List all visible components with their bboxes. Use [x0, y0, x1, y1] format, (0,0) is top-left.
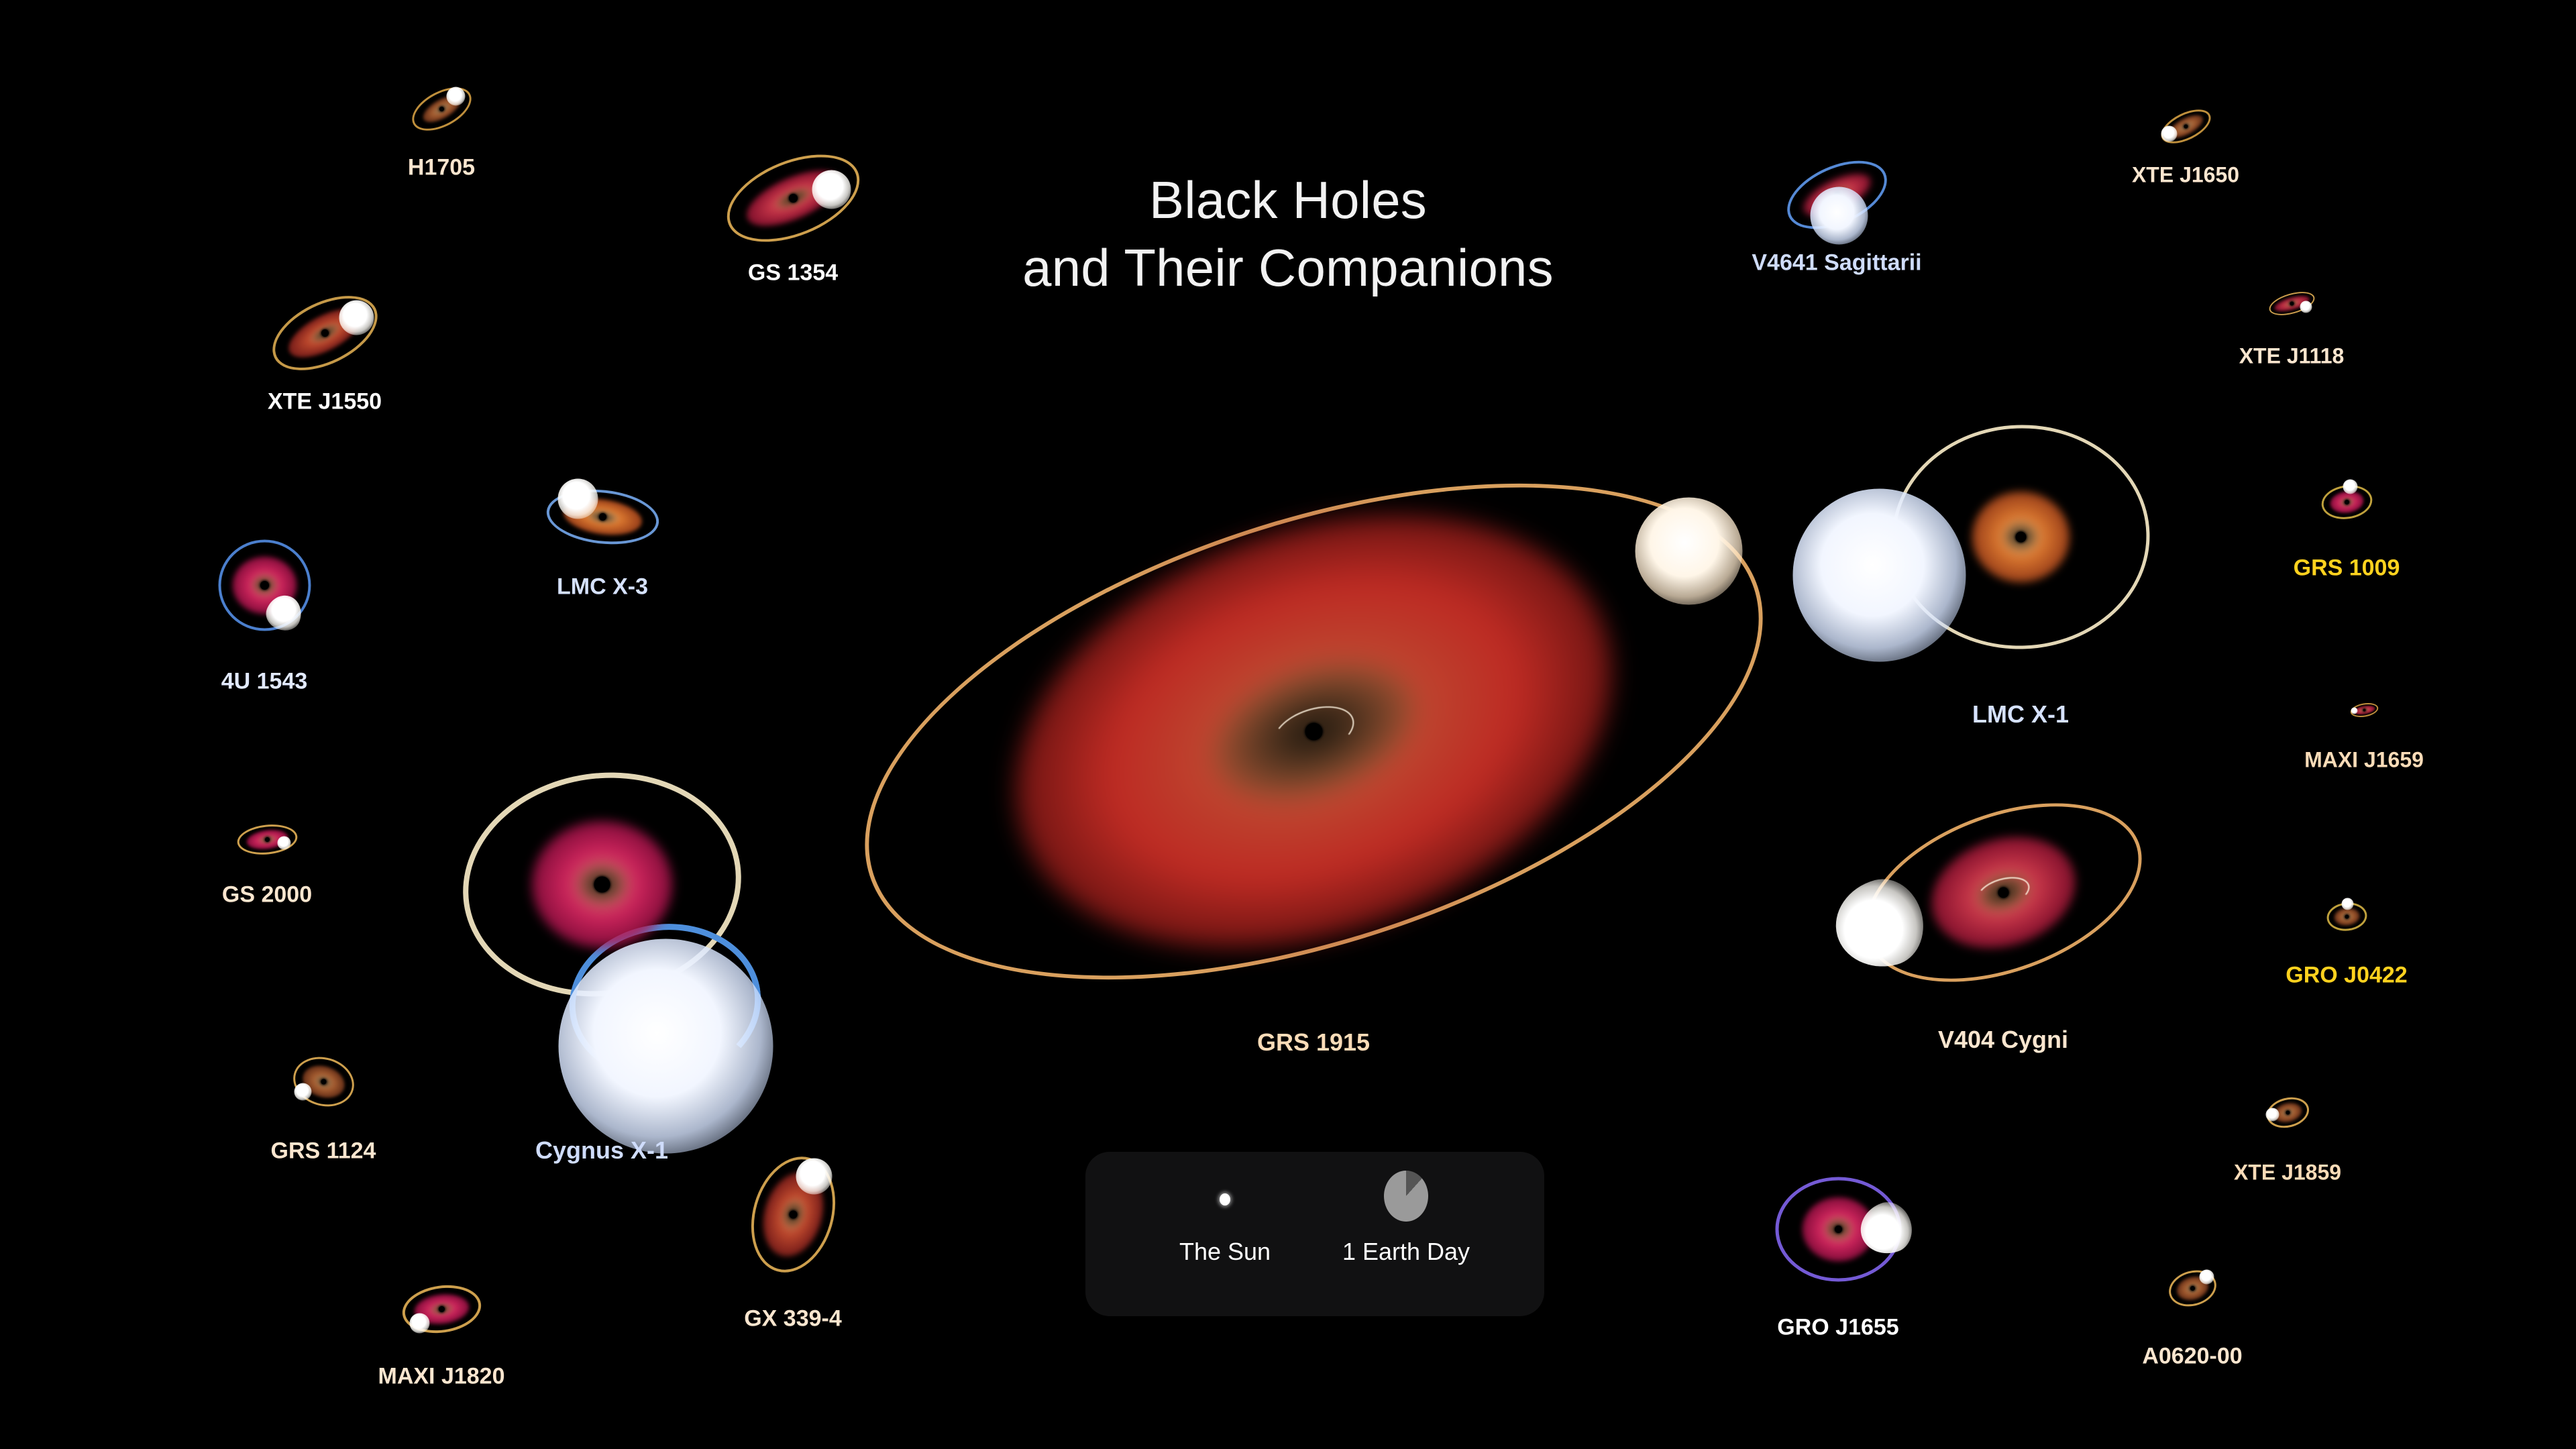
system-artwork-xte-j1550 — [325, 333, 325, 333]
system-label-xte-j1118: XTE J1118 — [2239, 344, 2345, 369]
system-label-lmc-x-1: LMC X-1 — [1972, 700, 2069, 729]
companion-star — [812, 170, 851, 209]
black-hole — [2286, 1110, 2290, 1114]
legend-label-one-earth-day: 1 Earth Day — [1326, 1238, 1487, 1266]
system-label-gs1354: GS 1354 — [748, 260, 838, 286]
starfield-canvas: Black Holes and Their Companions H1705GS… — [0, 0, 2576, 1449]
legend-label-the-sun: The Sun — [1144, 1238, 1305, 1266]
companion-star — [2343, 480, 2358, 494]
system-artwork-lmc-x-3 — [602, 517, 603, 517]
system-artwork-gx339-4 — [793, 1214, 794, 1215]
system-label-gro-j1655: GRO J1655 — [1777, 1315, 1898, 1341]
system-label-a0620-00: A0620-00 — [2142, 1344, 2242, 1370]
system-artwork-maxi-j1659 — [2364, 710, 2365, 710]
black-hole — [2345, 500, 2349, 504]
system-artwork-grs1915 — [1313, 731, 1314, 732]
system-label-maxi-j1659: MAXI J1659 — [2304, 748, 2424, 773]
system-label-4u-1543: 4U 1543 — [221, 669, 308, 695]
black-hole — [321, 1079, 326, 1084]
black-hole — [2184, 124, 2188, 128]
black-hole — [321, 329, 329, 337]
black-hole — [265, 837, 270, 842]
black-hole — [2190, 1286, 2195, 1291]
black-hole — [789, 194, 798, 203]
companion-star — [2200, 1270, 2214, 1285]
system-artwork-grs1124 — [323, 1081, 324, 1082]
companion-star — [278, 837, 291, 850]
title-line-2: and Their Companions — [0, 234, 2576, 302]
clock-pie-icon — [1384, 1171, 1428, 1222]
black-hole — [594, 876, 610, 892]
black-hole — [599, 513, 606, 521]
companion-star — [2351, 708, 2358, 714]
black-hole — [2363, 708, 2365, 711]
companion-star — [2300, 301, 2312, 313]
companion-star — [558, 479, 598, 519]
companion-star — [447, 87, 466, 106]
system-label-grs1915: GRS 1915 — [1257, 1028, 1370, 1057]
system-artwork-cygnus-x-1 — [602, 884, 602, 885]
system-artwork-a0620-00 — [2192, 1288, 2193, 1289]
small-white-dot-icon — [1220, 1193, 1230, 1205]
companion-star — [410, 1313, 430, 1334]
black-hole — [2290, 301, 2294, 305]
system-artwork-gs1354 — [793, 198, 794, 199]
companion-star — [559, 939, 773, 1154]
system-artwork-lmc-x-1 — [2021, 537, 2021, 537]
black-hole — [2345, 914, 2349, 918]
system-label-grs1124: GRS 1124 — [271, 1138, 376, 1165]
black-hole — [2015, 531, 2026, 542]
system-label-v404-cygni: V404 Cygni — [1938, 1026, 2068, 1054]
system-label-v4641-sgr: V4641 Sagittarii — [1752, 250, 1921, 276]
companion-star — [294, 1083, 312, 1101]
system-label-gx339-4: GX 339-4 — [744, 1306, 842, 1332]
black-hole — [789, 1210, 797, 1218]
companion-star — [1793, 489, 1966, 662]
system-label-xte-j1550: XTE J1550 — [268, 389, 382, 415]
system-artwork-h1705 — [441, 109, 442, 109]
black-hole — [1305, 722, 1322, 740]
system-label-lmc-x-3: LMC X-3 — [557, 574, 648, 600]
black-hole — [439, 107, 444, 111]
companion-star — [339, 301, 374, 335]
system-label-grs1009: GRS 1009 — [2294, 555, 2400, 582]
black-hole — [1835, 1226, 1842, 1233]
companion-star — [2161, 126, 2178, 142]
system-artwork-v404-cygni — [2003, 892, 2004, 893]
black-hole — [260, 581, 269, 590]
system-label-xte-j1859: XTE J1859 — [2234, 1161, 2341, 1185]
system-artwork-xte-j1859 — [2288, 1112, 2288, 1113]
companion-star — [796, 1159, 833, 1195]
companion-star — [1811, 187, 1868, 245]
system-artwork-grs1009 — [2347, 502, 2347, 502]
companion-star — [1635, 498, 1743, 605]
black-hole — [1998, 887, 2008, 898]
system-label-cygnus-x-1: Cygnus X-1 — [535, 1136, 668, 1165]
system-artwork-4u-1543 — [264, 585, 265, 586]
system-label-gs2000: GS 2000 — [222, 882, 312, 908]
system-artwork-v4641-sgr — [1837, 195, 1837, 195]
system-artwork-gro-j1655 — [1838, 1229, 1839, 1230]
legend-panel: The Sun 1 Earth Day — [1085, 1152, 1544, 1316]
system-artwork-xte-j1118 — [2292, 303, 2292, 304]
legend-item-one-earth-day: 1 Earth Day — [1326, 1171, 1487, 1266]
companion-star — [2342, 898, 2354, 910]
system-label-h1705: H1705 — [408, 155, 475, 181]
legend-item-the-sun: The Sun — [1144, 1193, 1305, 1266]
system-label-gro-j0422: GRO J0422 — [2286, 963, 2407, 989]
system-artwork-gro-j0422 — [2347, 916, 2347, 917]
system-artwork-maxi-j1820 — [441, 1309, 442, 1309]
system-label-maxi-j1820: MAXI J1820 — [378, 1364, 505, 1390]
system-artwork-xte-j1650 — [2186, 126, 2186, 127]
companion-star — [2266, 1108, 2279, 1122]
system-label-xte-j1650: XTE J1650 — [2132, 163, 2239, 188]
system-artwork-gs2000 — [267, 839, 268, 840]
black-hole — [439, 1306, 445, 1312]
